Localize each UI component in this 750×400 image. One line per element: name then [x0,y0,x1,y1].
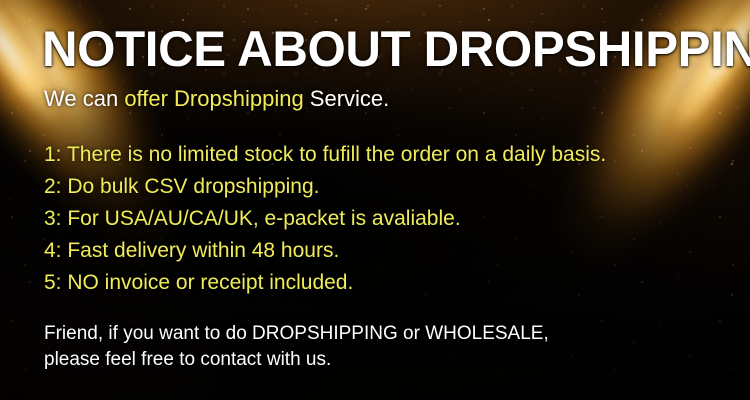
dropshipping-notice-banner: NOTICE ABOUT DROPSHIPPING: We can offer … [0,0,750,400]
subtitle-lead-text: We can [44,86,124,111]
dropshipping-terms-list: 1: There is no limited stock to fufill t… [44,139,606,299]
subtitle-trail-text: Service. [304,86,390,111]
list-item: 2: Do bulk CSV dropshipping. [44,171,606,203]
banner-content: NOTICE ABOUT DROPSHIPPING: We can offer … [0,0,750,400]
banner-title: NOTICE ABOUT DROPSHIPPING: [42,24,750,74]
subtitle-highlight-text: offer Dropshipping [124,86,303,111]
list-item: 3: For USA/AU/CA/UK, e-packet is avaliab… [44,203,606,235]
banner-subtitle: We can offer Dropshipping Service. [44,88,389,110]
list-item: 5: NO invoice or receipt included. [44,267,606,299]
banner-footer: Friend, if you want to do DROPSHIPPING o… [44,321,549,373]
footer-line-2: please feel free to contact with us. [44,347,549,373]
footer-line-1: Friend, if you want to do DROPSHIPPING o… [44,321,549,347]
list-item: 1: There is no limited stock to fufill t… [44,139,606,171]
list-item: 4: Fast delivery within 48 hours. [44,235,606,267]
